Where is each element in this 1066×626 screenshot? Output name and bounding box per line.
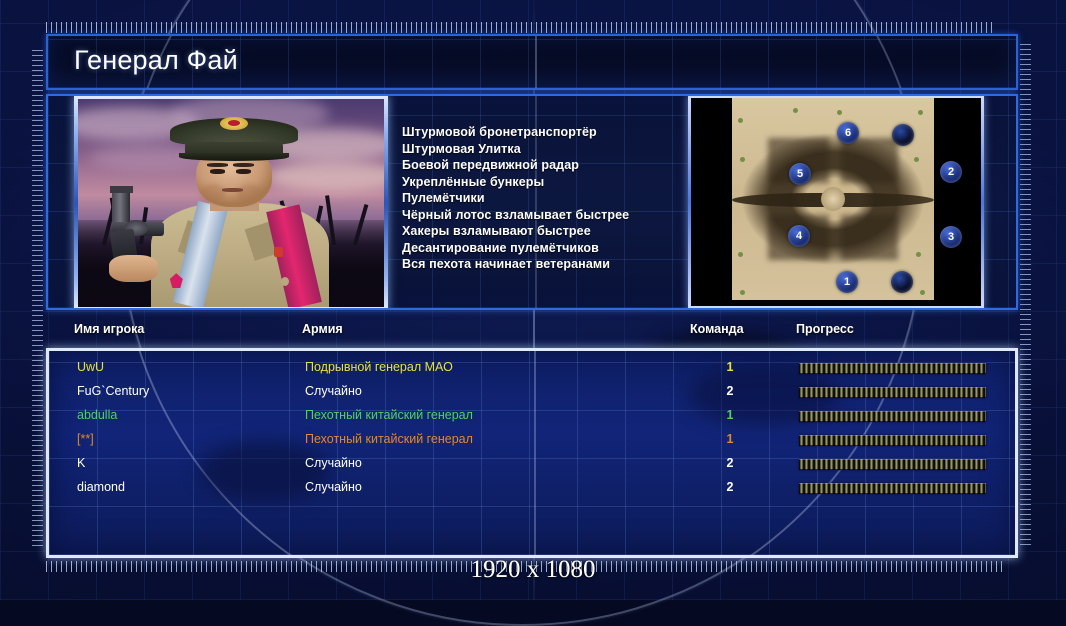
- player-team: 2: [717, 384, 743, 398]
- player-name: abdulla: [77, 408, 117, 422]
- table-row[interactable]: [**]Пехотный китайский генерал1: [49, 429, 1018, 453]
- player-progress-bar: [799, 435, 986, 446]
- player-name: K: [77, 456, 85, 470]
- title-bar-vline: [535, 36, 537, 88]
- revolver-sight: [110, 186, 133, 192]
- minimap-frame: 652431: [688, 95, 984, 309]
- player-army: Пехотный китайский генерал: [305, 432, 473, 446]
- ability-item: Вся пехота начинает ветеранами: [402, 256, 702, 273]
- player-team: 1: [717, 408, 743, 422]
- tree-marker: [740, 157, 745, 162]
- ability-item: Десантирование пулемётчиков: [402, 240, 702, 257]
- ability-item: Хакеры взламывают быстрее: [402, 223, 702, 240]
- player-army: Случайно: [305, 480, 362, 494]
- player-progress-bar: [799, 411, 986, 422]
- header-progress: Прогресс: [796, 322, 854, 336]
- player-progress-bar: [799, 363, 986, 374]
- header-team: Команда: [690, 322, 744, 336]
- ruler-top: [46, 22, 996, 33]
- ability-item: Штурмовая Улитка: [402, 141, 702, 158]
- brow-right: [233, 163, 254, 166]
- table-row[interactable]: diamondСлучайно2: [49, 477, 1018, 501]
- table-header-row: Имя игрока Армия Команда Прогресс: [46, 322, 1018, 344]
- player-progress-bar: [799, 483, 986, 494]
- page-title: Генерал Фай: [74, 45, 238, 76]
- minimap-start-position-2[interactable]: 2: [940, 161, 962, 183]
- player-team: 2: [717, 480, 743, 494]
- player-team: 1: [717, 432, 743, 446]
- minimap-start-position-4[interactable]: 4: [788, 225, 810, 247]
- minimap-start-position-empty[interactable]: [892, 124, 914, 146]
- ruler-right: [1020, 40, 1031, 545]
- header-army: Армия: [302, 322, 343, 336]
- player-list-panel: UwUПодрывной генерал МАО1FuG`CenturyСлуч…: [46, 348, 1018, 558]
- player-rows: UwUПодрывной генерал МАО1FuG`CenturyСлуч…: [49, 357, 1018, 501]
- minimap[interactable]: 652431: [691, 98, 981, 306]
- ability-item: Боевой передвижной радар: [402, 157, 702, 174]
- tree-marker: [920, 290, 925, 295]
- ability-list: Штурмовой бронетранспортёр Штурмовая Ули…: [402, 124, 702, 273]
- title-bar-arc: [122, 34, 926, 90]
- player-name: FuG`Century: [77, 384, 149, 398]
- ability-item: Пулемётчики: [402, 190, 702, 207]
- player-army: Случайно: [305, 456, 362, 470]
- tree-marker: [914, 157, 919, 162]
- player-army: Пехотный китайский генерал: [305, 408, 473, 422]
- cheek-left: [200, 184, 224, 203]
- player-name: [**]: [77, 432, 94, 446]
- player-progress-bar: [799, 387, 986, 398]
- player-team: 1: [717, 360, 743, 374]
- eye-left: [210, 169, 225, 174]
- cap-badge-icon: [220, 117, 248, 131]
- player-army: Подрывной генерал МАО: [305, 360, 453, 374]
- terrain-shadow: [841, 138, 898, 182]
- table-row[interactable]: KСлучайно2: [49, 453, 1018, 477]
- general-hand: [109, 255, 158, 282]
- player-name: UwU: [77, 360, 104, 374]
- tree-marker: [916, 252, 921, 257]
- tree-marker: [740, 290, 745, 295]
- player-army: Случайно: [305, 384, 362, 398]
- tree-marker: [918, 110, 923, 115]
- header-player-name: Имя игрока: [74, 322, 144, 336]
- ability-item: Укреплённые бункеры: [402, 174, 702, 191]
- minimap-start-position-3[interactable]: 3: [940, 226, 962, 248]
- medal: [274, 247, 283, 257]
- revolver-barrel: [112, 191, 130, 222]
- minimap-start-position-5[interactable]: 5: [789, 163, 811, 185]
- tree-marker: [738, 118, 743, 123]
- player-name: diamond: [77, 480, 125, 494]
- ability-item: Штурмовой бронетранспортёр: [402, 124, 702, 141]
- mouth: [222, 188, 243, 191]
- tree-marker: [837, 110, 842, 115]
- general-portrait-frame: [74, 95, 388, 310]
- cloud: [268, 161, 384, 190]
- title-bar: Генерал Фай: [46, 34, 1018, 90]
- general-info-screen: Генерал Фай: [46, 34, 1018, 558]
- brow-left: [207, 163, 228, 166]
- minimap-start-position-6[interactable]: 6: [837, 122, 859, 144]
- ruler-left: [32, 46, 43, 546]
- general-details-panel: Штурмовой бронетранспортёр Штурмовая Ули…: [46, 94, 1018, 310]
- eye-right: [236, 169, 251, 174]
- tree-marker: [793, 108, 798, 113]
- table-row[interactable]: FuG`CenturyСлучайно2: [49, 381, 1018, 405]
- cheek-right: [237, 184, 261, 203]
- minimap-start-position-empty[interactable]: [891, 271, 913, 293]
- tree-marker: [738, 252, 743, 257]
- minimap-start-position-1[interactable]: 1: [836, 271, 858, 293]
- player-progress-bar: [799, 459, 986, 470]
- ability-item: Чёрный лотос взламывает быстрее: [402, 207, 702, 224]
- general-portrait: [78, 99, 384, 307]
- terrain-shadow: [841, 215, 898, 259]
- table-row[interactable]: abdullaПехотный китайский генерал1: [49, 405, 1018, 429]
- player-team: 2: [717, 456, 743, 470]
- resolution-label: 1920 x 1080: [0, 556, 1066, 584]
- table-row[interactable]: UwUПодрывной генерал МАО1: [49, 357, 1018, 381]
